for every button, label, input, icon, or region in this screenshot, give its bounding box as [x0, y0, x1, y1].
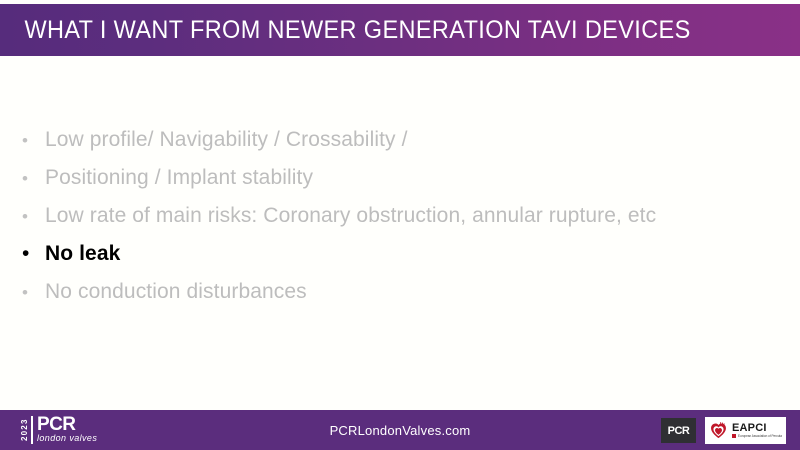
list-item-label: No conduction disturbances [45, 280, 307, 304]
list-item: • Low profile/ Navigability / Crossabili… [0, 128, 800, 166]
bullet-list: • Low profile/ Navigability / Crossabili… [0, 128, 800, 318]
list-item-label: No leak [45, 242, 120, 266]
bullet-point-icon: • [22, 284, 45, 301]
list-item: • No conduction disturbances [0, 280, 800, 318]
pcr-partner-logo: PCR [661, 418, 696, 443]
slide-footer: PCRLondonValves.com 2023 PCR london valv… [0, 410, 800, 450]
list-item: • Positioning / Implant stability [0, 166, 800, 204]
bullet-point-icon: • [22, 132, 45, 149]
eapci-tagline-row: European Association of Percutaneous Car… [732, 434, 782, 438]
bullet-point-icon: • [22, 170, 45, 187]
slide-header: WHAT I WANT FROM NEWER GENERATION TAVI D… [0, 4, 800, 56]
logo-divider [31, 416, 33, 444]
footer-partner-logos: PCR EAPCI European Association of Perc [661, 417, 786, 444]
eapci-tagline-label: European Association of Percutaneous Car… [738, 435, 782, 439]
eapci-wordmark: EAPCI European Association of Percutaneo… [732, 423, 782, 439]
eapci-square-icon [732, 434, 736, 438]
pcr-london-valves-logo: 2023 PCR london valves [20, 416, 97, 444]
list-item-label: Low rate of main risks: Coronary obstruc… [45, 204, 656, 228]
logo-wordmark: PCR london valves [37, 416, 97, 444]
logo-year-label: 2023 [20, 416, 29, 444]
list-item: • Low rate of main risks: Coronary obstr… [0, 204, 800, 242]
bullet-point-icon: • [22, 243, 45, 264]
logo-subtitle-label: london valves [37, 434, 97, 444]
eapci-partner-logo: EAPCI European Association of Percutaneo… [705, 417, 786, 444]
pcr-partner-label: PCR [668, 425, 690, 437]
list-item-label: Positioning / Implant stability [45, 166, 313, 190]
slide: WHAT I WANT FROM NEWER GENERATION TAVI D… [0, 0, 800, 450]
page-title: WHAT I WANT FROM NEWER GENERATION TAVI D… [0, 16, 691, 45]
list-item-label: Low profile/ Navigability / Crossability… [45, 128, 408, 152]
list-item-highlighted: • No leak [0, 242, 800, 280]
bullet-point-icon: • [22, 208, 45, 225]
logo-pcr-label: PCR [37, 416, 97, 434]
heart-icon [709, 421, 728, 440]
